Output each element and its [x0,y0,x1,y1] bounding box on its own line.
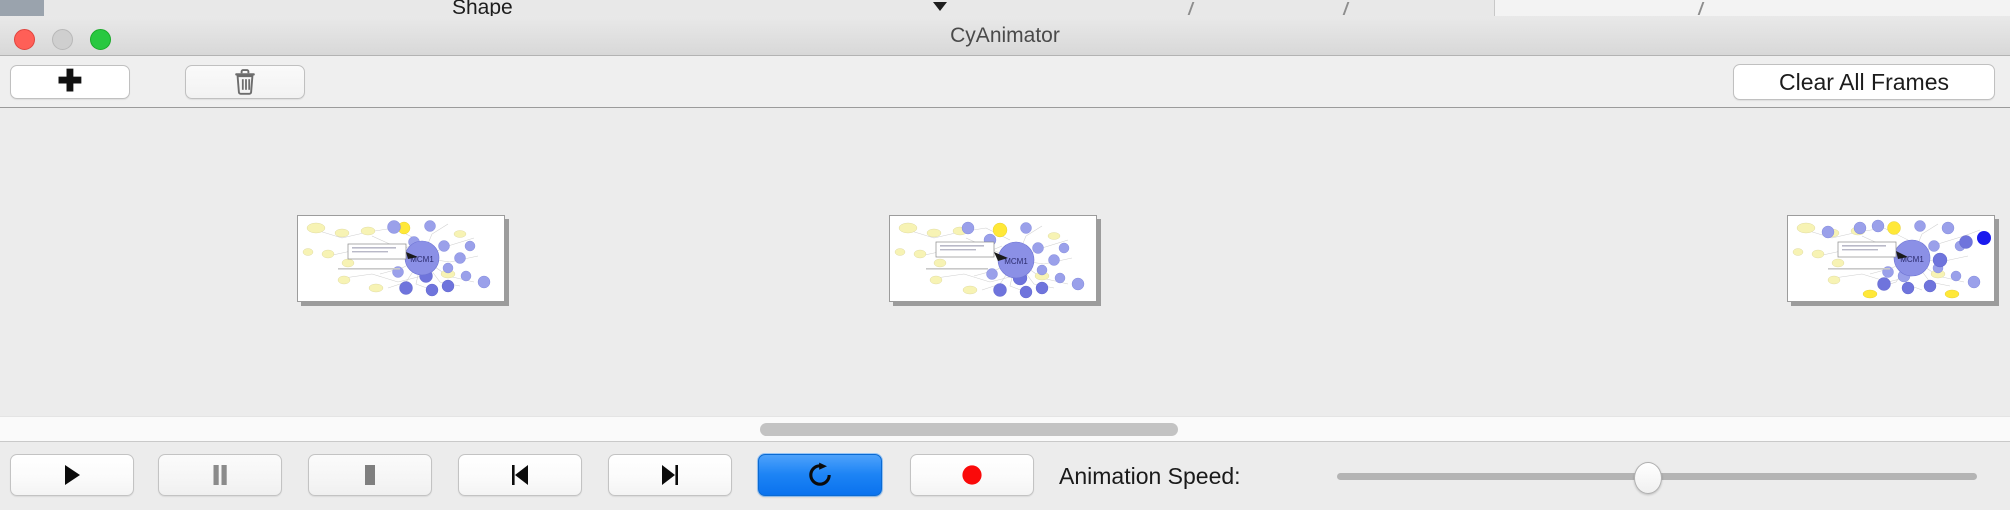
pause-icon [210,463,230,487]
stop-button[interactable] [308,454,432,496]
bg-seg [334,0,435,16]
bg-seg [934,0,1195,16]
bg-shape-label: Shape [452,0,513,17]
frame-thumbnail[interactable]: MCM1 [889,215,1097,302]
frame-thumbnail[interactable]: MCM1 [297,215,505,302]
bg-slash-icon [1698,2,1705,15]
bg-arrow-icon [933,2,947,11]
play-button[interactable] [10,454,134,496]
animation-speed-thumb[interactable] [1634,462,1662,494]
animation-speed-label: Animation Speed: [1059,443,1241,510]
trash-icon [234,69,256,95]
scrollbar-thumb[interactable] [760,423,1178,436]
add-frame-button[interactable]: ✚ [10,65,130,99]
bg-seg [244,0,335,16]
playback-controlbar: Animation Speed: [0,443,2010,510]
stop-icon [360,463,380,487]
record-icon [960,463,984,487]
skip-back-icon [508,463,532,487]
clear-all-frames-button[interactable]: Clear All Frames [1733,64,1995,100]
frame-toolbar: ✚ Clear All Frames [0,56,2010,108]
clear-all-frames-label: Clear All Frames [1779,69,1949,96]
bg-seg [44,0,245,16]
previous-frame-button[interactable] [458,454,582,496]
title-bar: CyAnimator [0,16,2010,56]
play-icon [61,463,83,487]
bg-dark-seg [0,0,44,16]
skip-fwd-icon [658,463,682,487]
delete-frame-button[interactable] [185,65,305,99]
svg-text:MCM1: MCM1 [1004,257,1028,266]
record-button[interactable] [910,454,1034,496]
plus-icon: ✚ [57,67,82,97]
frame-thumbnail[interactable]: MCM1 [1787,215,1995,302]
pause-button[interactable] [158,454,282,496]
next-frame-button[interactable] [608,454,732,496]
bg-seg [674,0,935,16]
window-title: CyAnimator [0,16,2010,56]
background-window-strip: Shape [0,0,2010,17]
timeline-panel[interactable]: MCM1 [0,109,2010,413]
cyanimator-window: Shape CyAnimator ✚ Clear All Frames [0,0,2010,510]
timeline-scrollbar[interactable] [0,416,2010,442]
loop-button[interactable] [758,454,882,496]
loop-icon [807,462,833,488]
